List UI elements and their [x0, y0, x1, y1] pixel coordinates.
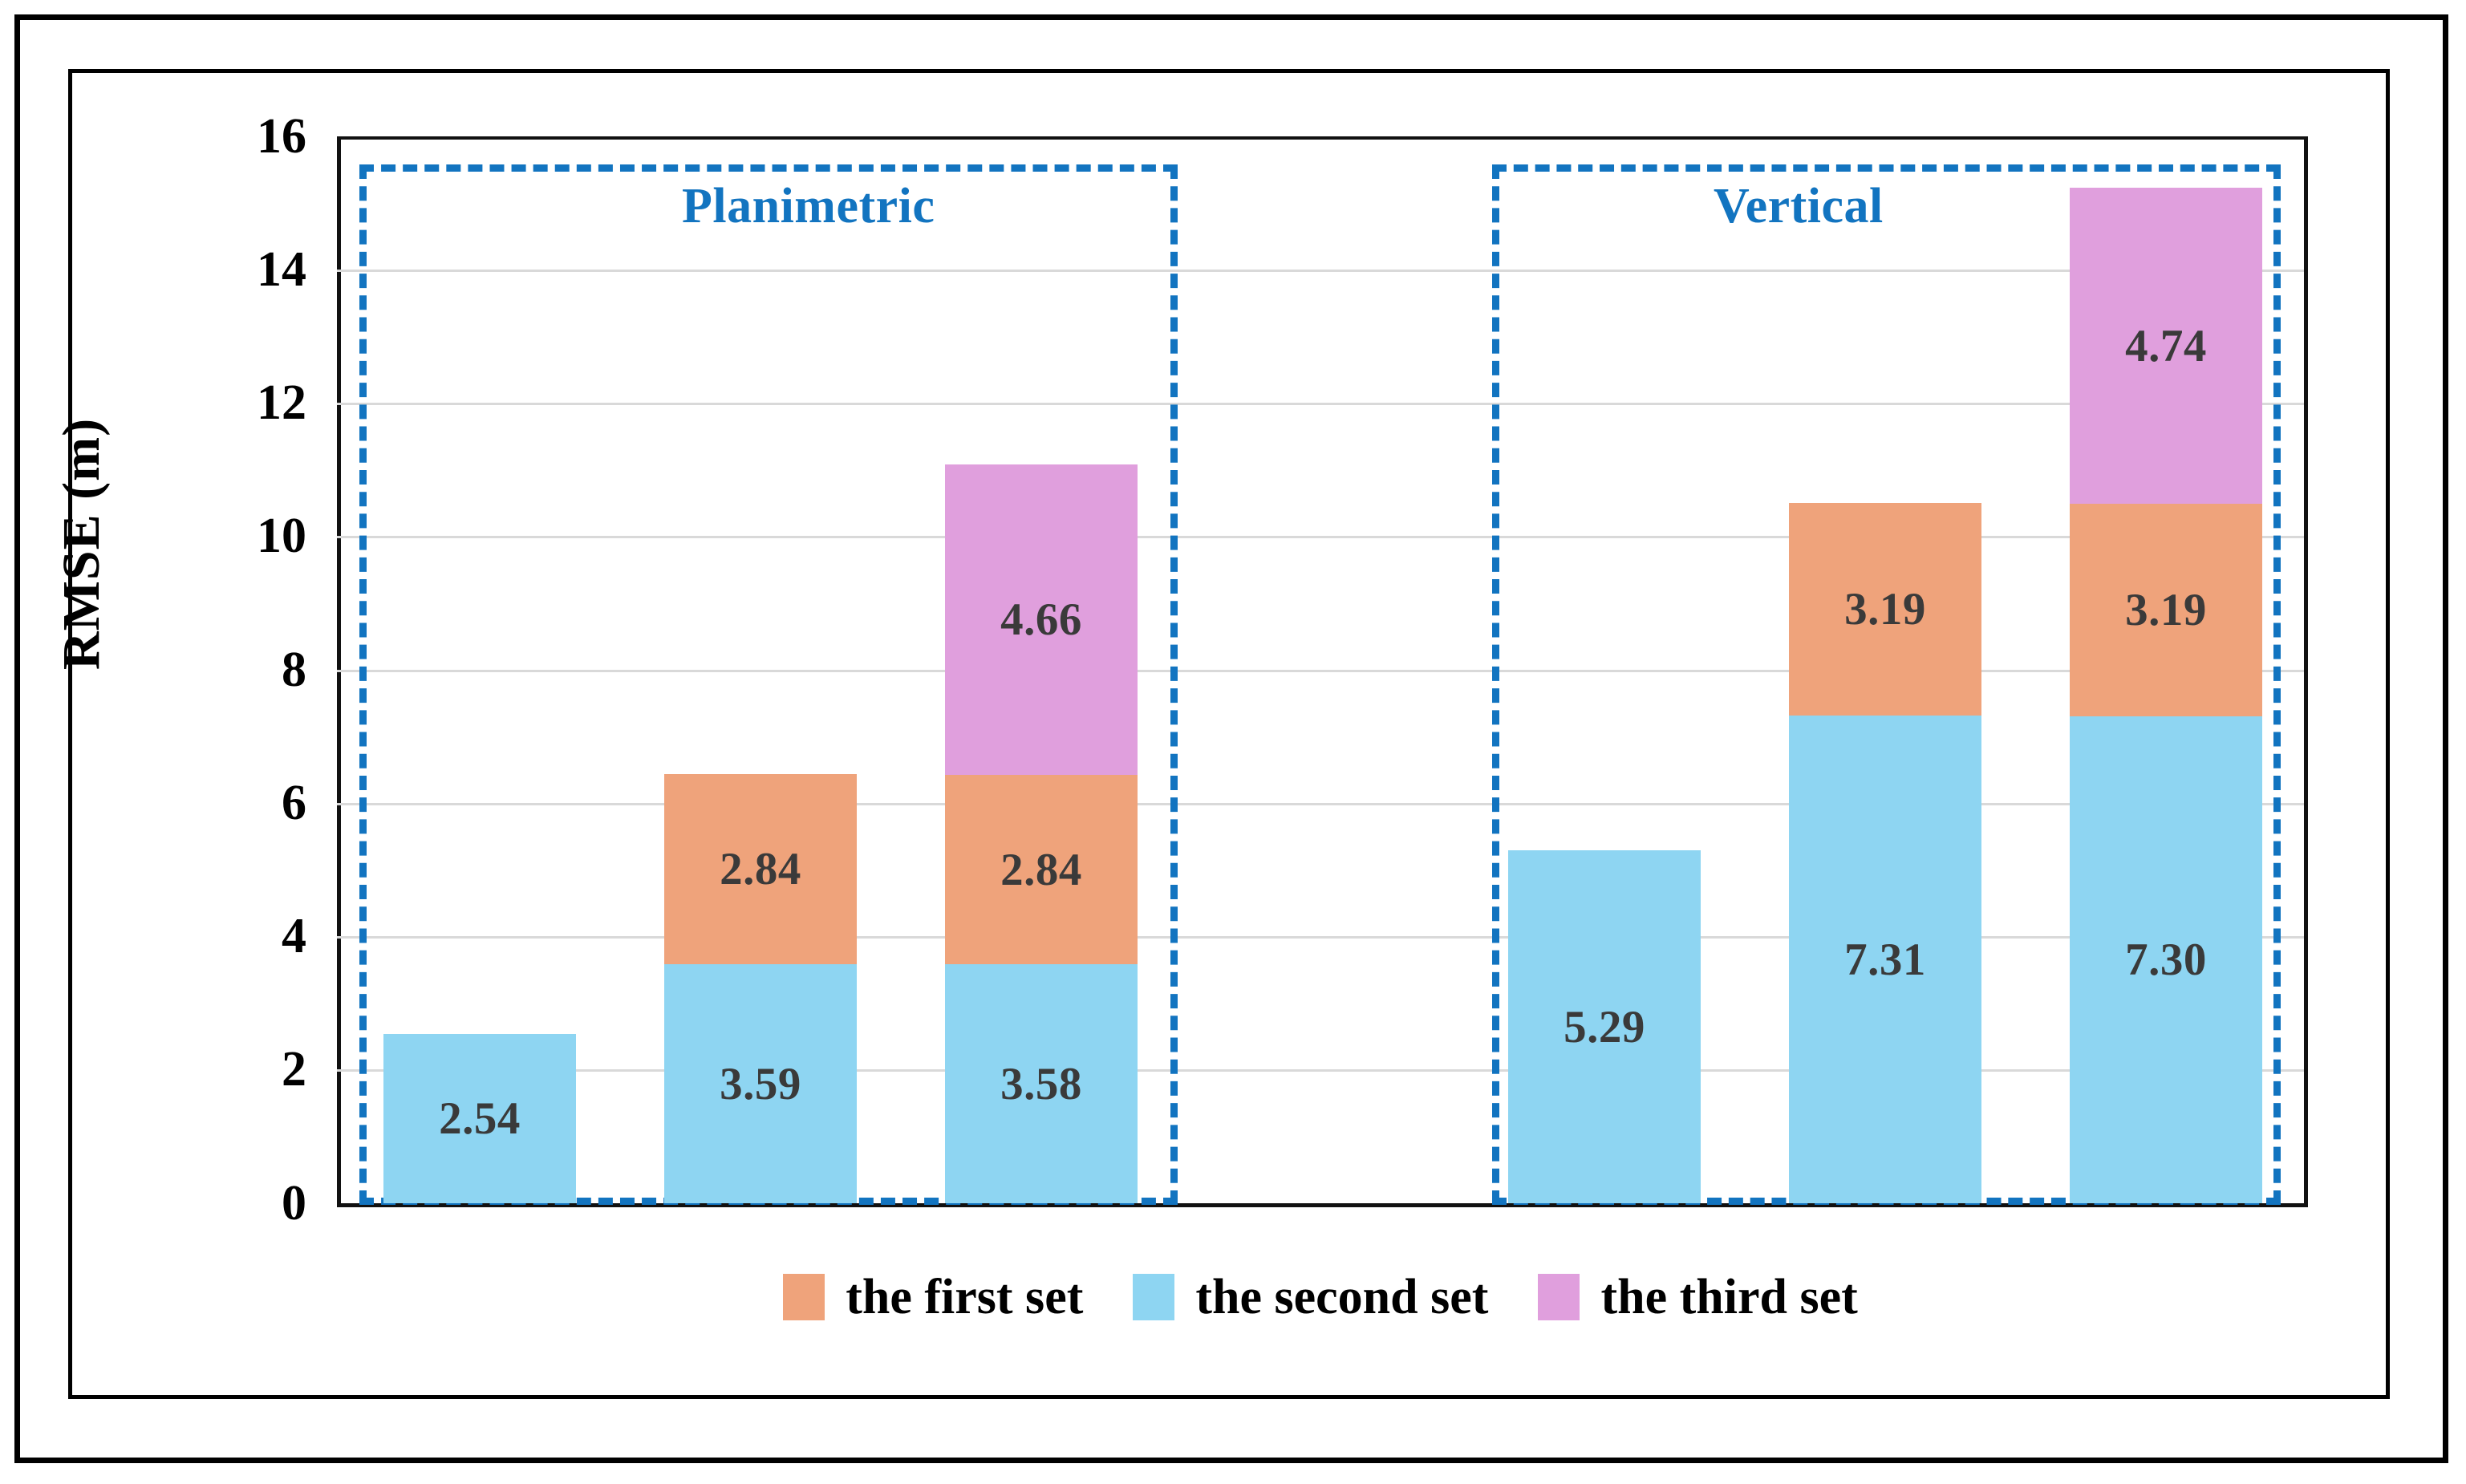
- bar-segment-first-set[interactable]: 2.84: [664, 774, 857, 964]
- bar-stack-planimetric-2[interactable]: 3.59 2.84: [664, 774, 857, 1203]
- bar-stack-planimetric-1[interactable]: 2.54: [383, 1034, 576, 1203]
- legend-swatch-icon-first-set: [783, 1274, 825, 1320]
- bar-segment-first-set[interactable]: 2.84: [945, 775, 1138, 964]
- y-axis-title: RMSE (m): [51, 367, 112, 720]
- y-tick-14: 14: [257, 245, 306, 294]
- bar-segment-first-set[interactable]: 3.19: [2070, 504, 2262, 716]
- annotation-label-planimetric: Planimetric: [682, 178, 935, 235]
- y-axis-tick-labels: 0 2 4 6 8 10 12 14 16: [104, 0, 306, 1484]
- chart-legend: the first set the second set the third s…: [337, 1272, 2304, 1322]
- bar-value-label: 2.84: [720, 846, 801, 892]
- legend-item-first-set[interactable]: the first set: [783, 1272, 1083, 1322]
- bar-value-label: 3.58: [1000, 1061, 1082, 1107]
- bar-segment-first-set[interactable]: 3.19: [1789, 503, 1981, 716]
- y-tick-6: 6: [282, 778, 306, 828]
- axis-spine-right: [2304, 136, 2308, 1207]
- bar-value-label: 7.30: [2125, 937, 2207, 983]
- bar-value-label: 2.84: [1000, 847, 1082, 893]
- bar-segment-second-set[interactable]: 7.31: [1789, 716, 1981, 1203]
- bar-value-label: 3.59: [720, 1061, 801, 1107]
- bar-value-label: 4.66: [1000, 597, 1082, 643]
- y-tick-10: 10: [257, 511, 306, 561]
- bar-stack-vertical-1[interactable]: 5.29: [1508, 850, 1701, 1203]
- legend-item-third-set[interactable]: the third set: [1538, 1272, 1857, 1322]
- y-tick-2: 2: [282, 1044, 306, 1094]
- annotation-label-vertical: Vertical: [1714, 178, 1884, 235]
- bar-segment-third-set[interactable]: 4.66: [945, 464, 1138, 775]
- legend-swatch-icon-second-set: [1133, 1274, 1174, 1320]
- bar-value-label: 3.19: [2125, 587, 2207, 633]
- bar-segment-third-set[interactable]: 4.74: [2070, 188, 2262, 504]
- bar-value-label: 5.29: [1564, 1004, 1645, 1050]
- bar-value-label: 4.74: [2125, 323, 2207, 369]
- bar-value-label: 2.54: [439, 1096, 521, 1141]
- bar-segment-second-set[interactable]: 5.29: [1508, 850, 1701, 1203]
- bar-segment-second-set[interactable]: 3.59: [664, 964, 857, 1203]
- bar-segment-second-set[interactable]: 3.58: [945, 964, 1138, 1203]
- legend-label-third-set: the third set: [1600, 1272, 1857, 1322]
- legend-swatch-icon-third-set: [1538, 1274, 1580, 1320]
- bar-stack-vertical-3[interactable]: 7.30 3.19 4.74: [2070, 188, 2262, 1203]
- y-tick-16: 16: [257, 112, 306, 161]
- bar-value-label: 3.19: [1844, 586, 1926, 632]
- legend-label-first-set: the first set: [846, 1272, 1083, 1322]
- bar-segment-second-set[interactable]: 7.30: [2070, 716, 2262, 1203]
- y-tick-0: 0: [282, 1178, 306, 1228]
- legend-label-second-set: the second set: [1195, 1272, 1488, 1322]
- bar-value-label: 7.31: [1844, 937, 1926, 983]
- bar-stack-vertical-2[interactable]: 7.31 3.19: [1789, 503, 1981, 1203]
- y-tick-4: 4: [282, 911, 306, 961]
- bar-segment-second-set[interactable]: 2.54: [383, 1034, 576, 1203]
- y-tick-12: 12: [257, 378, 306, 428]
- rmse-stacked-bar-chart: 0 2 4 6 8 10 12 14 16 RMSE (m) Planimetr…: [0, 0, 2466, 1484]
- legend-item-second-set[interactable]: the second set: [1133, 1272, 1488, 1322]
- bar-stack-planimetric-3[interactable]: 3.58 2.84 4.66: [945, 464, 1138, 1203]
- y-tick-8: 8: [282, 645, 306, 695]
- plot-area: Planimetric Vertical 2.54 3.59 2.84 3.58: [337, 136, 2304, 1203]
